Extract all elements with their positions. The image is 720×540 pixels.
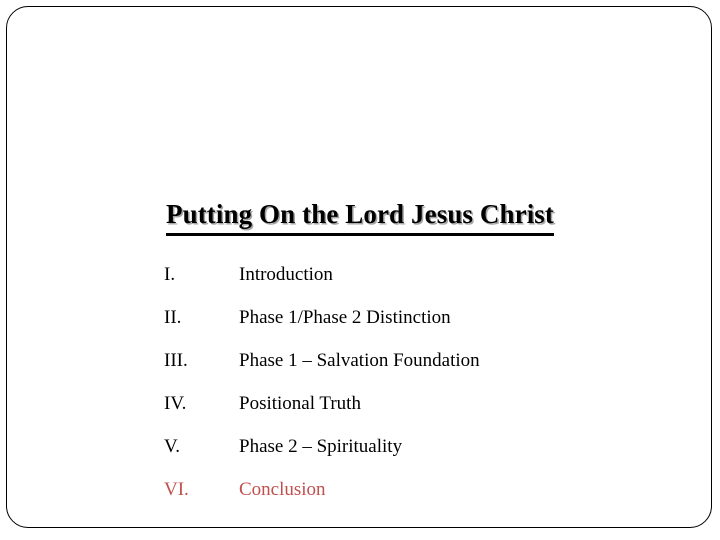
outline-numeral: VI. — [164, 478, 239, 501]
list-item: IV. Positional Truth — [164, 392, 634, 435]
slide-title-block: Putting On the Lord Jesus Christ — [0, 200, 720, 236]
outline-list: I. Introduction II. Phase 1/Phase 2 Dist… — [164, 263, 634, 521]
list-item: VI. Conclusion — [164, 478, 634, 521]
outline-label: Phase 2 – Spirituality — [239, 435, 634, 458]
outline-label: Conclusion — [239, 478, 634, 501]
list-item: III. Phase 1 – Salvation Foundation — [164, 349, 634, 392]
outline-label: Phase 1 – Salvation Foundation — [239, 349, 634, 372]
presentation-slide: Putting On the Lord Jesus Christ I. Intr… — [0, 0, 720, 540]
outline-numeral: I. — [164, 263, 239, 286]
outline-numeral: III. — [164, 349, 239, 372]
outline-numeral: IV. — [164, 392, 239, 415]
outline-label: Phase 1/Phase 2 Distinction — [239, 306, 634, 329]
list-item: I. Introduction — [164, 263, 634, 306]
outline-numeral: II. — [164, 306, 239, 329]
outline-label: Introduction — [239, 263, 634, 286]
list-item: V. Phase 2 – Spirituality — [164, 435, 634, 478]
outline-numeral: V. — [164, 435, 239, 458]
page-title: Putting On the Lord Jesus Christ — [166, 200, 554, 236]
outline-label: Positional Truth — [239, 392, 634, 415]
list-item: II. Phase 1/Phase 2 Distinction — [164, 306, 634, 349]
